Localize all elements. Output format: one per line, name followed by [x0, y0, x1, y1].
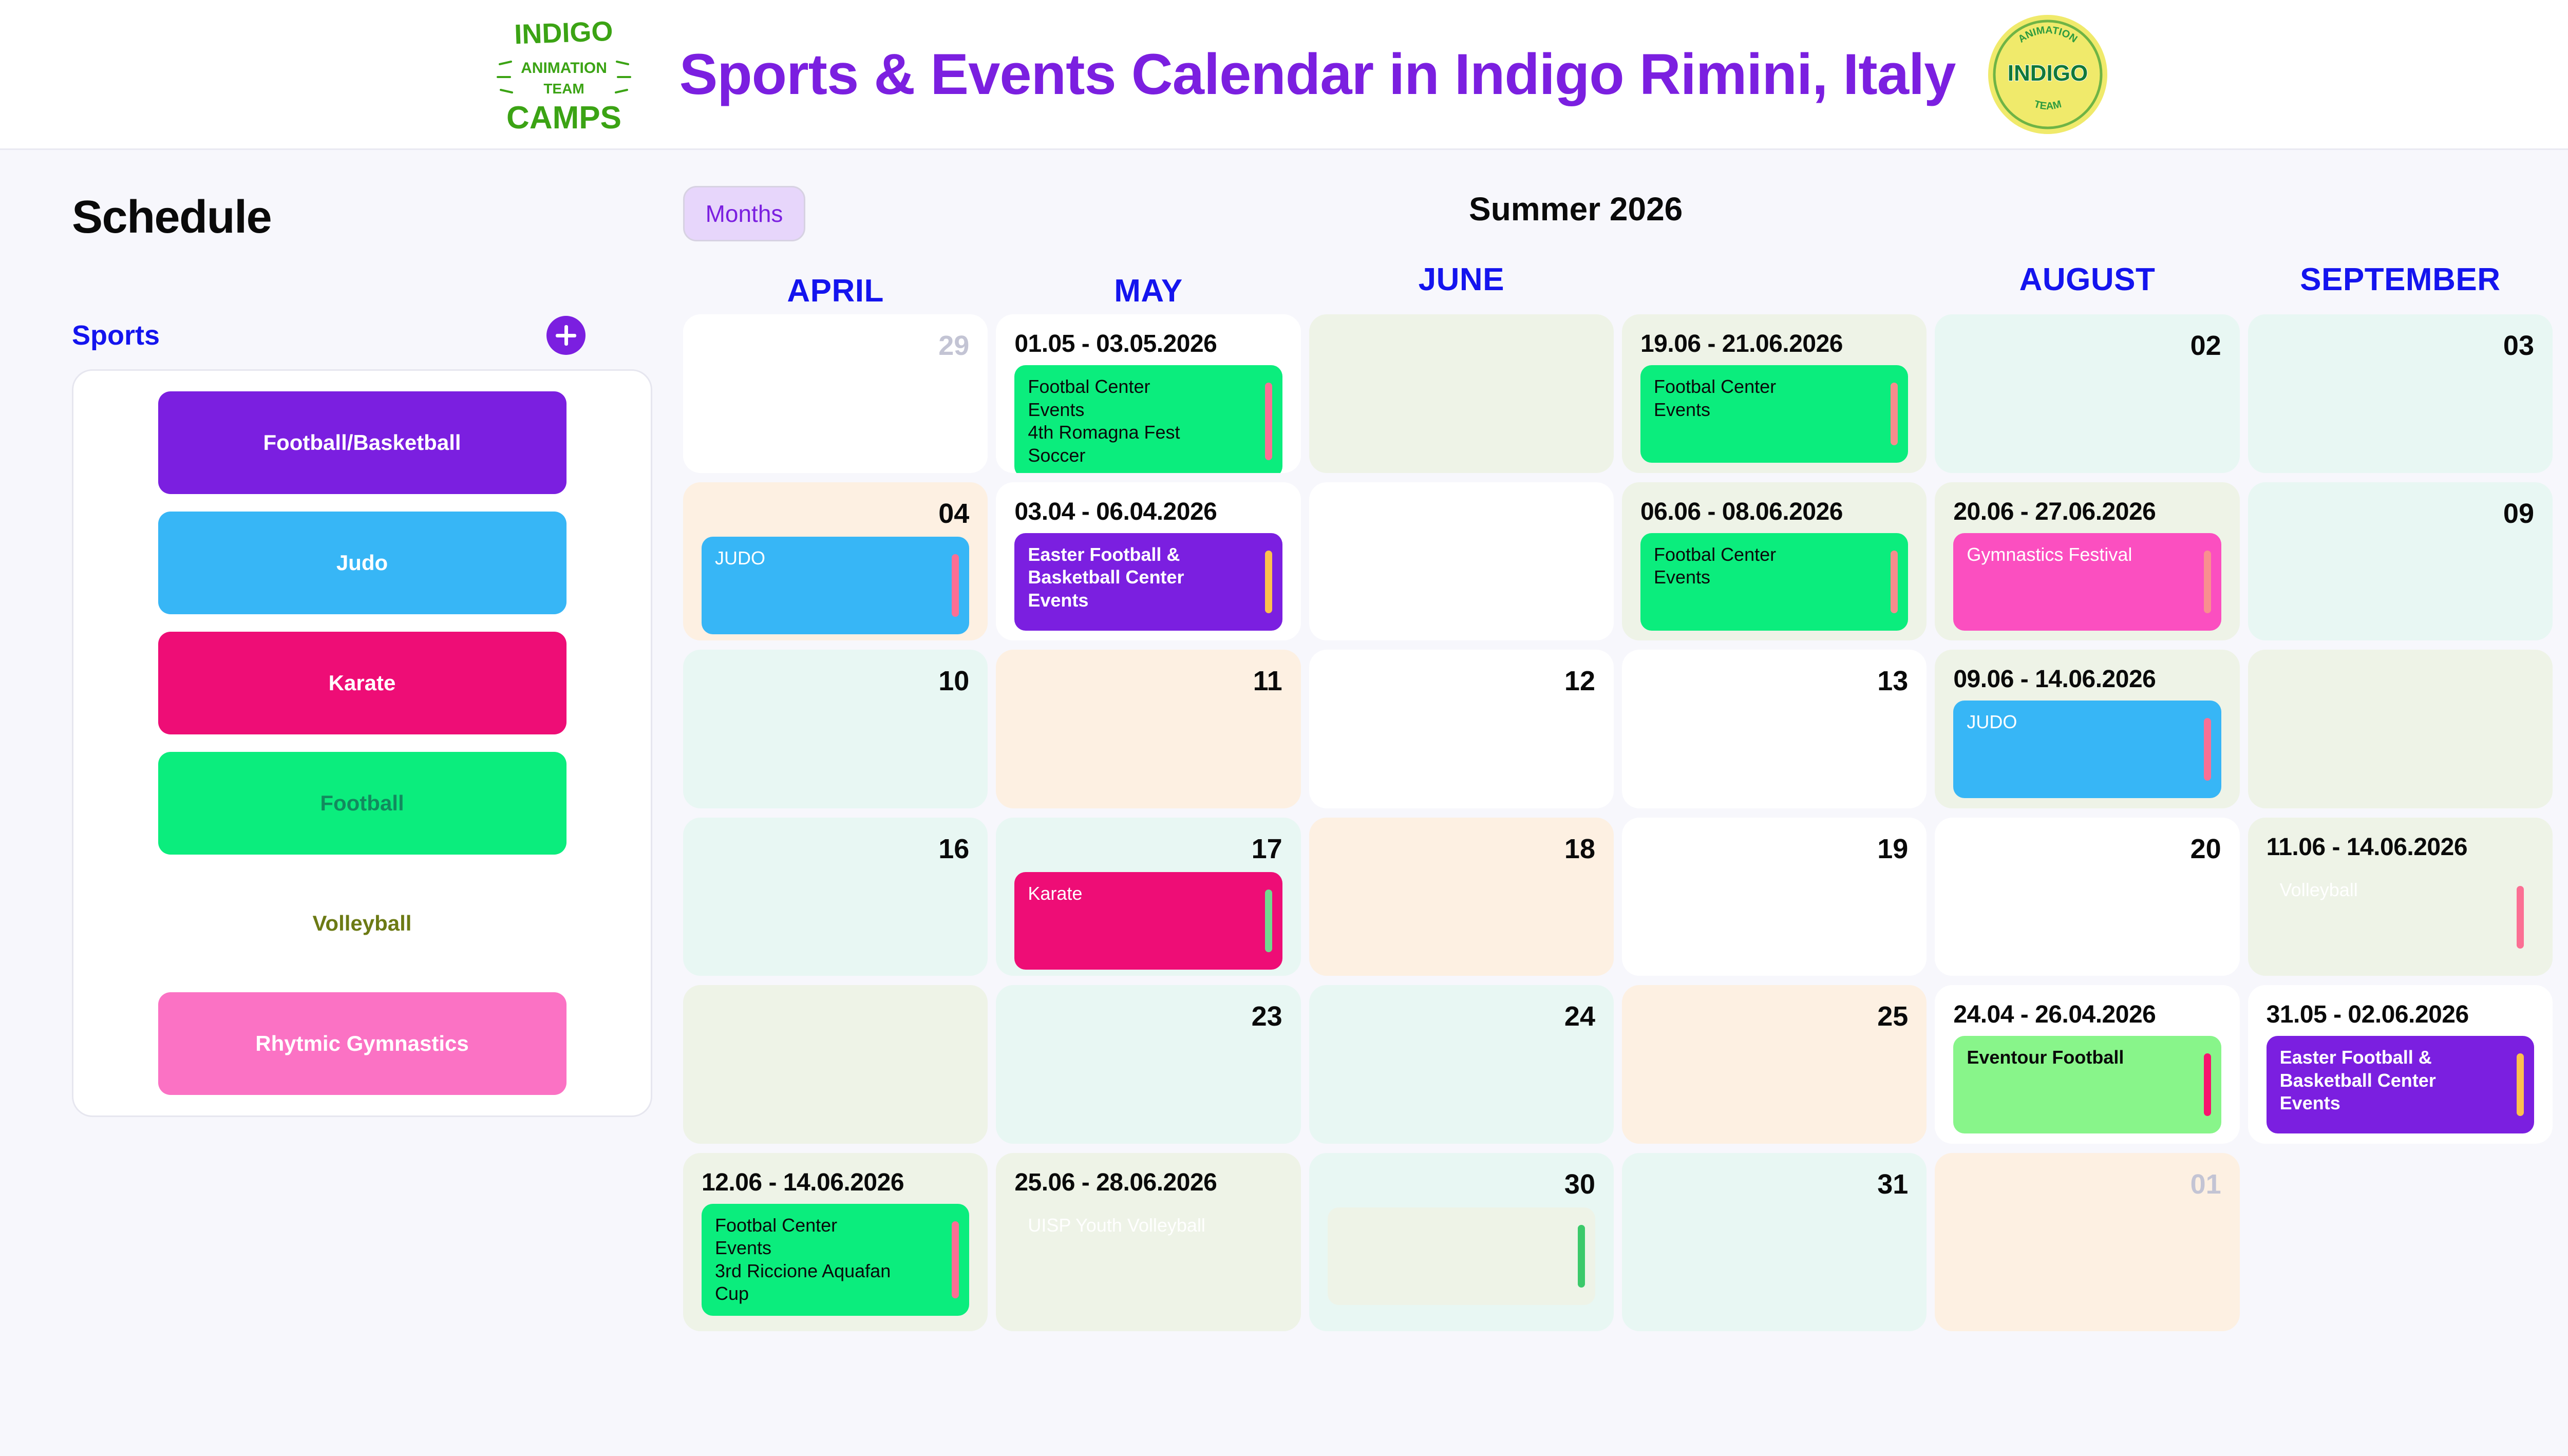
calendar-day-cell[interactable]: 11.06 - 14.06.2026Volleyball	[2248, 818, 2553, 976]
event-accent-bar	[1265, 551, 1272, 613]
sports-list: Football/BasketballJudoKarateFootballVol…	[72, 369, 652, 1117]
day-cell-header: 09	[2267, 498, 2534, 530]
event-card[interactable]: Volleyball	[2267, 868, 2534, 966]
sport-chip-label: Karate	[329, 671, 396, 695]
day-cell-date-range: 01.05 - 03.05.2026	[1014, 330, 1282, 358]
event-card[interactable]: Footbal Center Events 3rd Riccione Aquaf…	[702, 1204, 969, 1316]
event-card-label: Footbal Center Events 4th Romagna Fest S…	[1028, 375, 1269, 467]
day-cell-header: 10	[702, 665, 969, 697]
schedule-title: Schedule	[72, 191, 683, 244]
calendar-day-cell[interactable]: 31.05 - 02.06.2026Easter Football & Bask…	[2248, 985, 2553, 1144]
event-accent-bar	[1265, 890, 1272, 952]
day-number: 18	[1564, 833, 1595, 865]
svg-text:TEAM: TEAM	[543, 81, 584, 97]
event-accent-bar	[1578, 1225, 1585, 1288]
sport-chip[interactable]: Karate	[158, 632, 567, 734]
day-cell-header	[1328, 498, 1595, 530]
day-cell-header: 25	[1640, 1000, 1908, 1032]
day-number: 02	[2191, 330, 2221, 362]
sports-section-label: Sports	[72, 319, 160, 351]
day-cell-header: 04	[702, 498, 969, 530]
calendar: Months Summer 2026 APRILMAYJUNEAUGUSTSEP…	[683, 150, 2568, 1456]
event-card-label: Footbal Center Events	[1654, 543, 1895, 589]
event-card-label: Easter Football & Basketball Center Even…	[1028, 543, 1269, 612]
calendar-day-cell[interactable]: 12	[1309, 650, 1614, 808]
event-card[interactable]: Footbal Center Events 4th Romagna Fest S…	[1014, 365, 1282, 473]
months-view-button[interactable]: Months	[683, 186, 805, 241]
calendar-day-cell[interactable]	[1309, 314, 1614, 473]
day-cell-date-range: 31.05 - 02.06.2026	[2267, 1000, 2534, 1029]
calendar-day-cell[interactable]: 13	[1622, 650, 1927, 808]
page-body: Schedule Sports Football/BasketballJudoK…	[0, 150, 2568, 1456]
event-card-label: Volleyball	[2280, 879, 2521, 902]
day-cell-date-range: 03.04 - 06.04.2026	[1014, 498, 1282, 526]
event-accent-bar	[1891, 383, 1898, 445]
day-cell-date-range: 11.06 - 14.06.2026	[2267, 833, 2534, 861]
day-cell-header: 01	[1953, 1168, 2221, 1200]
calendar-day-cell[interactable]: 03	[2248, 314, 2553, 473]
calendar-day-cell[interactable]: 01	[1935, 1153, 2239, 1332]
day-cell-header: 13	[1640, 665, 1908, 697]
event-card[interactable]: JUDO	[702, 537, 969, 634]
indigo-animation-team-badge: ANIMATION INDIGO TEAM	[1986, 13, 2109, 136]
month-label-september[interactable]: SEPTEMBER	[2248, 261, 2553, 298]
sport-chip[interactable]: Football/Basketball	[158, 391, 567, 494]
calendar-day-cell[interactable]: 12.06 - 14.06.2026Footbal Center Events …	[683, 1153, 988, 1332]
svg-text:INDIGO: INDIGO	[2008, 61, 2088, 86]
day-cell-date-range: 20.06 - 27.06.2026	[1953, 498, 2221, 526]
event-accent-bar	[952, 554, 959, 617]
calendar-day-cell[interactable]	[683, 985, 988, 1144]
day-cell-date-range: 09.06 - 14.06.2026	[1953, 665, 2221, 693]
calendar-day-cell[interactable]: 02	[1935, 314, 2239, 473]
calendar-day-cell[interactable]: 03.04 - 06.04.2026Easter Football & Bask…	[996, 482, 1300, 641]
day-number: 04	[938, 498, 969, 530]
day-cell-date-range: 06.06 - 08.06.2026	[1640, 498, 1908, 526]
calendar-day-cell[interactable]: 20.06 - 27.06.2026Gymnastics Festival	[1935, 482, 2239, 641]
calendar-day-cell[interactable]: 04JUDO	[683, 482, 988, 641]
plus-icon-add-sport-button[interactable]	[546, 316, 586, 355]
event-accent-bar	[2204, 1053, 2211, 1116]
calendar-day-cell[interactable]: 10	[683, 650, 988, 808]
svg-text:INDIGO: INDIGO	[514, 15, 613, 50]
calendar-day-cell[interactable]: 06.06 - 08.06.2026Footbal Center Events	[1622, 482, 1927, 641]
day-cell-header: 30	[1328, 1168, 1595, 1200]
calendar-day-cell[interactable]: 31	[1622, 1153, 1927, 1332]
day-cell-header: 18	[1328, 833, 1595, 865]
day-cell-header: 23	[1014, 1000, 1282, 1032]
event-card-label: Gymnastics Festival	[1967, 543, 2207, 566]
day-number: 23	[1252, 1000, 1282, 1032]
day-cell-header: 20	[1953, 833, 2221, 865]
event-accent-bar	[1265, 1221, 1272, 1284]
event-accent-bar	[2204, 718, 2211, 781]
calendar-day-cell[interactable]: 24	[1309, 985, 1614, 1144]
svg-text:CAMPS: CAMPS	[506, 100, 621, 136]
event-card[interactable]: Footbal Center Events	[1640, 533, 1908, 631]
event-card[interactable]: Eventour Football	[1953, 1036, 2221, 1133]
day-cell-header: 31	[1640, 1168, 1908, 1200]
event-card[interactable]: UISP Youth Volleyball	[1014, 1204, 1282, 1301]
day-number: 09	[2503, 498, 2534, 530]
indigo-animation-team-camps-logo: INDIGO ANIMATION TEAM CAMPS	[479, 10, 649, 139]
day-cell-header: 19	[1640, 833, 1908, 865]
page-title: Sports & Events Calendar in Indigo Rimin…	[679, 41, 1956, 107]
sport-chip-label: Football	[320, 791, 404, 816]
month-label-june[interactable]: JUNE	[1309, 261, 1614, 298]
day-number: 16	[938, 833, 969, 865]
app-header: INDIGO ANIMATION TEAM CAMPS Sports & Eve…	[0, 0, 2568, 150]
calendar-day-cell[interactable]: 24.04 - 26.04.2026Eventour Football	[1935, 985, 2239, 1144]
event-card-label: Easter Football & Basketball Center Even…	[2280, 1046, 2521, 1115]
sport-chip[interactable]: Judo	[158, 512, 567, 614]
event-card-label: UISP Youth Volleyball	[1028, 1214, 1269, 1237]
calendar-day-cell[interactable]: 18	[1309, 818, 1614, 976]
event-card-label: Karate	[1028, 882, 1269, 905]
day-number: 29	[938, 330, 969, 362]
season-title: Summer 2026	[1469, 190, 1683, 228]
sport-chip[interactable]: Volleyball	[158, 872, 567, 975]
calendar-day-cell[interactable]: 11	[996, 650, 1300, 808]
sport-chip[interactable]: Football	[158, 752, 567, 855]
calendar-day-cell[interactable]: 17Karate	[996, 818, 1300, 976]
calendar-toolbar: Months Summer 2026	[683, 171, 2553, 248]
day-number: 03	[2503, 330, 2534, 362]
calendar-day-cell[interactable]: 01.05 - 03.05.2026Footbal Center Events …	[996, 314, 1300, 473]
day-number: 13	[1877, 665, 1908, 697]
calendar-day-cell[interactable]: 20	[1935, 818, 2239, 976]
calendar-day-cell[interactable]: 09.06 - 14.06.2026JUDO	[1935, 650, 2239, 808]
day-cell-header	[702, 1000, 969, 1032]
event-accent-bar	[1265, 383, 1272, 460]
day-cell-date-range: 12.06 - 14.06.2026	[702, 1168, 969, 1197]
sport-chip-label: Volleyball	[313, 911, 412, 936]
event-accent-bar	[2204, 551, 2211, 613]
event-card[interactable]: Footbal Center Events	[1640, 365, 1908, 463]
day-cell-header	[2267, 665, 2534, 697]
month-labels-row: APRILMAYJUNEAUGUSTSEPTEMBER	[683, 248, 2553, 314]
svg-text:ANIMATION: ANIMATION	[521, 60, 607, 77]
month-label-august[interactable]: AUGUST	[1935, 261, 2239, 298]
calendar-grid: 2901.05 - 03.05.2026Footbal Center Event…	[683, 314, 2553, 1331]
event-card-label: JUDO	[1967, 711, 2207, 734]
day-cell-header: 11	[1014, 665, 1282, 697]
event-accent-bar	[952, 1221, 959, 1299]
sidebar: Schedule Sports Football/BasketballJudoK…	[0, 150, 683, 1456]
event-card-label: Eventour Football	[1967, 1046, 2207, 1069]
event-accent-bar	[2517, 886, 2524, 949]
event-card-label: Footbal Center Events 3rd Riccione Aquaf…	[715, 1214, 956, 1306]
calendar-day-cell[interactable]: 09	[2248, 482, 2553, 641]
event-accent-bar	[2517, 1053, 2524, 1116]
day-number: 30	[1564, 1168, 1595, 1200]
day-cell-header	[1328, 330, 1595, 362]
event-accent-bar	[1891, 551, 1898, 613]
calendar-day-cell[interactable]: 19.06 - 21.06.2026Footbal Center Events	[1622, 314, 1927, 473]
day-number: 20	[2191, 833, 2221, 865]
calendar-day-cell[interactable]: 16	[683, 818, 988, 976]
day-cell-date-range: 25.06 - 28.06.2026	[1014, 1168, 1282, 1197]
event-card[interactable]: Karate	[1014, 872, 1282, 970]
event-card-label: JUDO	[715, 547, 956, 570]
sport-chip-label: Judo	[336, 551, 388, 575]
sport-chip-label: Football/Basketball	[263, 430, 461, 455]
event-card[interactable]	[1328, 1207, 1595, 1305]
day-cell-header: 29	[702, 330, 969, 362]
calendar-day-cell[interactable]	[1309, 482, 1614, 641]
calendar-day-cell[interactable]: 19	[1622, 818, 1927, 976]
sport-chip[interactable]: Rhytmic Gymnastics	[158, 992, 567, 1095]
day-number: 11	[1253, 665, 1282, 697]
calendar-day-cell[interactable]: 23	[996, 985, 1300, 1144]
day-cell-header: 24	[1328, 1000, 1595, 1032]
day-cell-header: 12	[1328, 665, 1595, 697]
day-cell-header: 02	[1953, 330, 2221, 362]
day-cell-date-range: 24.04 - 26.04.2026	[1953, 1000, 2221, 1029]
sport-chip-label: Rhytmic Gymnastics	[255, 1031, 469, 1056]
day-number: 19	[1877, 833, 1908, 865]
event-card[interactable]: Easter Football & Basketball Center Even…	[1014, 533, 1282, 631]
calendar-day-cell[interactable]	[2248, 650, 2553, 808]
day-cell-header: 03	[2267, 330, 2534, 362]
day-cell-header: 16	[702, 833, 969, 865]
day-number: 01	[2191, 1168, 2221, 1200]
day-cell-date-range: 19.06 - 21.06.2026	[1640, 330, 1908, 358]
day-number: 10	[938, 665, 969, 697]
day-number: 25	[1877, 1000, 1908, 1032]
event-card-label: Footbal Center Events	[1654, 375, 1895, 421]
day-number: 17	[1252, 833, 1282, 865]
event-card[interactable]: Easter Football & Basketball Center Even…	[2267, 1036, 2534, 1133]
event-card[interactable]: Gymnastics Festival	[1953, 533, 2221, 631]
day-number: 31	[1877, 1168, 1908, 1200]
calendar-day-cell[interactable]: 29	[683, 314, 988, 473]
sports-header-row: Sports	[72, 316, 586, 355]
calendar-day-cell[interactable]: 25	[1622, 985, 1927, 1144]
month-label-april[interactable]: APRIL	[683, 273, 988, 309]
calendar-day-cell[interactable]: 25.06 - 28.06.2026UISP Youth Volleyball	[996, 1153, 1300, 1332]
day-cell-header: 17	[1014, 833, 1282, 865]
day-number: 12	[1564, 665, 1595, 697]
calendar-day-cell[interactable]: 30	[1309, 1153, 1614, 1332]
month-label-may[interactable]: MAY	[996, 273, 1300, 309]
event-card[interactable]: JUDO	[1953, 701, 2221, 798]
day-number: 24	[1564, 1000, 1595, 1032]
